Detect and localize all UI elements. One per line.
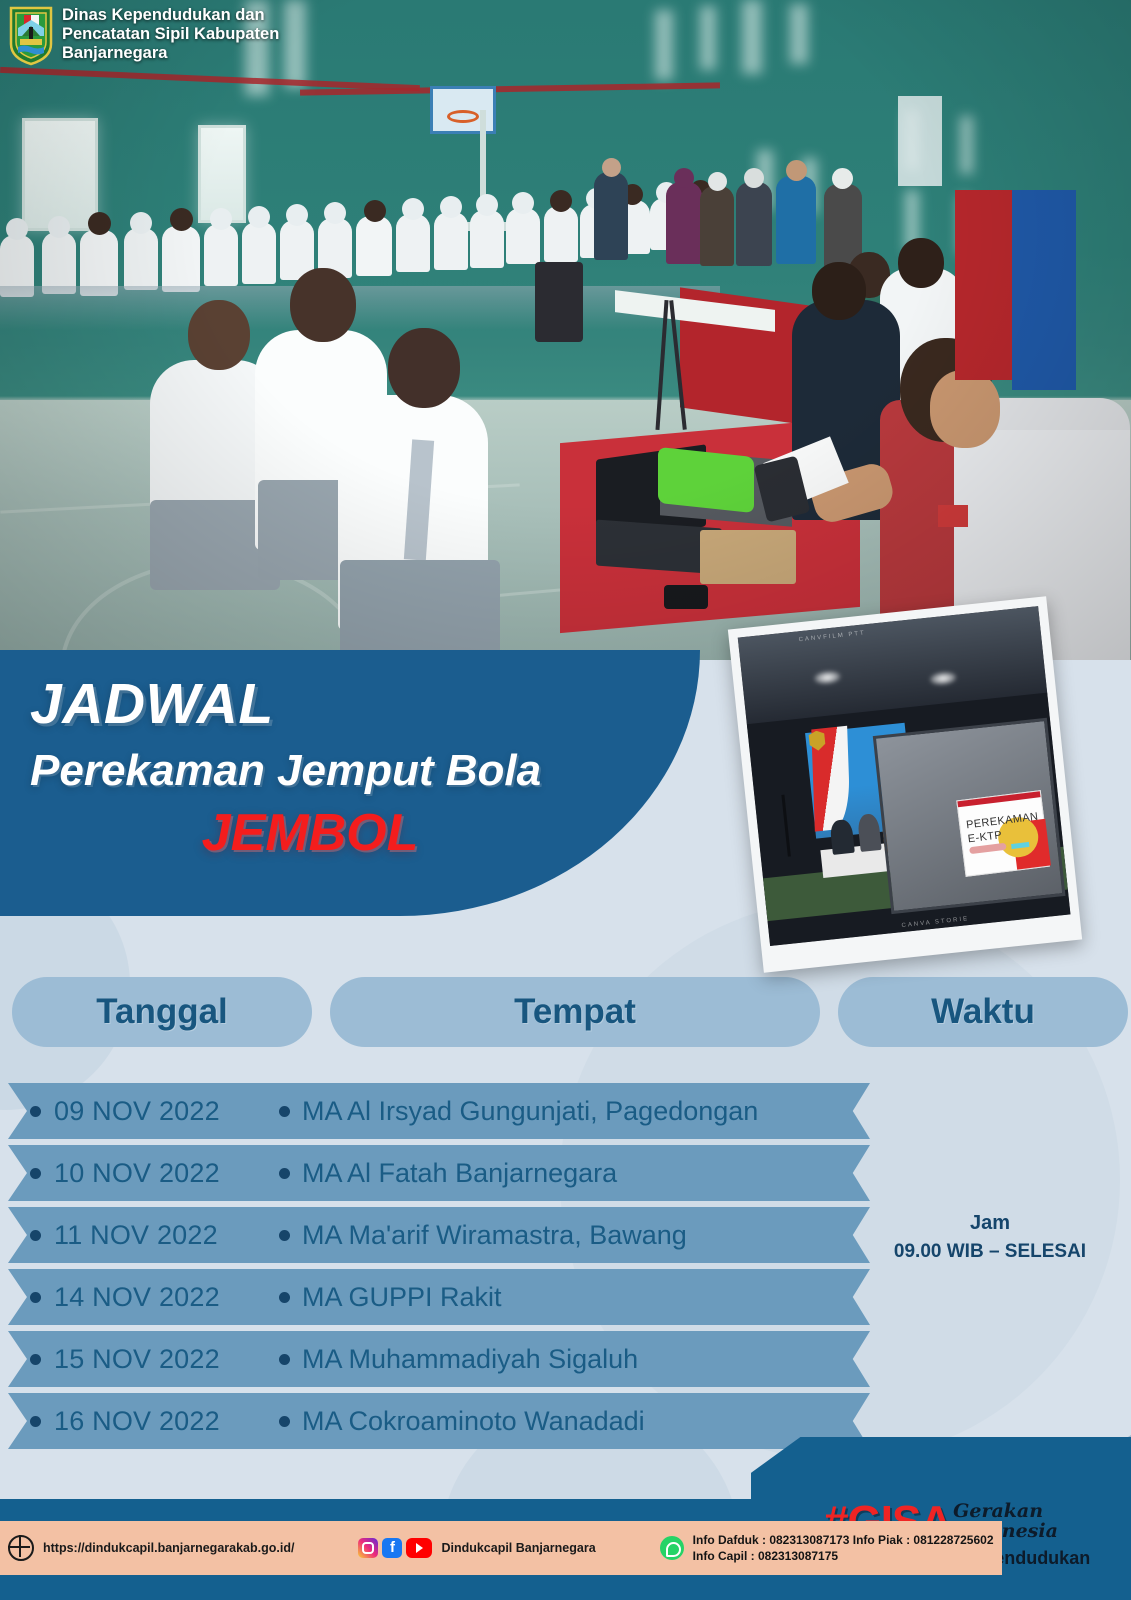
inset-photo: PEREKAMAN E-KTP CANVFILM PTT CANVA STORI… <box>738 606 1071 946</box>
waktu-value: 09.00 WIB – SELESAI <box>860 1241 1120 1263</box>
place-bullet-icon <box>279 1292 290 1303</box>
org-line-1: Dinas Kependudukan dan <box>62 6 279 25</box>
inset-photo-frame: PEREKAMAN E-KTP CANVFILM PTT CANVA STORI… <box>728 596 1082 973</box>
row-place: MA Muhammadiyah Sigaluh <box>302 1344 638 1375</box>
poster-root: Dinas Kependudukan dan Pencatatan Sipil … <box>0 0 1131 1600</box>
row-place-wrap: MA Al Irsyad Gungunjati, Pagedongan <box>279 1096 758 1127</box>
row-place: MA Al Irsyad Gungunjati, Pagedongan <box>302 1096 758 1127</box>
place-bullet-icon <box>279 1168 290 1179</box>
gisa-script-line-1: Gerakan <box>953 1502 1058 1522</box>
row-content: 14 NOV 2022 MA GUPPI Rakit <box>0 1269 880 1325</box>
date-bullet-icon <box>30 1416 41 1427</box>
column-header-tempat: Tempat <box>330 977 820 1047</box>
row-date: 15 NOV 2022 <box>54 1344 279 1375</box>
row-place: MA Al Fatah Banjarnegara <box>302 1158 617 1189</box>
row-content: 11 NOV 2022 MA Ma'arif Wiramastra, Bawan… <box>0 1207 880 1263</box>
contact-info-line-1: Info Dafduk : 082313087173 Info Piak : 0… <box>693 1532 994 1548</box>
inset-tv-screen: PEREKAMAN E-KTP <box>873 717 1066 914</box>
table-row: 14 NOV 2022 MA GUPPI Rakit <box>0 1269 880 1325</box>
place-bullet-icon <box>279 1416 290 1427</box>
instagram-icon[interactable] <box>358 1538 378 1558</box>
column-header-waktu-label: Waktu <box>931 992 1035 1032</box>
contact-info-line-2: Info Capil : 082313087175 <box>693 1548 994 1564</box>
table-row: 09 NOV 2022 MA Al Irsyad Gungunjati, Pag… <box>0 1083 880 1139</box>
column-header-waktu: Waktu <box>838 977 1128 1047</box>
date-bullet-icon <box>30 1354 41 1365</box>
facebook-icon[interactable]: f <box>382 1538 402 1558</box>
waktu-value-block: Jam 09.00 WIB – SELESAI <box>860 1212 1120 1263</box>
row-content: 10 NOV 2022 MA Al Fatah Banjarnegara <box>0 1145 880 1201</box>
date-bullet-icon <box>30 1230 41 1241</box>
title-block: JADWAL Perekaman Jemput Bola JEMBOL <box>30 676 590 859</box>
row-date: 16 NOV 2022 <box>54 1406 279 1437</box>
main-photo <box>0 0 1131 660</box>
date-bullet-icon <box>30 1292 41 1303</box>
waktu-label: Jam <box>860 1212 1120 1235</box>
column-header-tanggal-label: Tanggal <box>96 992 228 1032</box>
row-date: 14 NOV 2022 <box>54 1282 279 1313</box>
inset-slide: PEREKAMAN E-KTP <box>957 790 1051 876</box>
org-line-2: Pencatatan Sipil Kabupaten <box>62 25 279 44</box>
globe-icon <box>8 1535 34 1561</box>
title-line-3: JEMBOL <box>30 807 590 859</box>
date-bullet-icon <box>30 1168 41 1179</box>
website-url[interactable]: https://dindukcapil.banjarnegarakab.go.i… <box>43 1541 294 1555</box>
table-row: 16 NOV 2022 MA Cokroaminoto Wanadadi <box>0 1393 880 1449</box>
title-line-1: JADWAL <box>30 676 590 733</box>
row-place: MA Ma'arif Wiramastra, Bawang <box>302 1220 687 1251</box>
title-line-2: Perekaman Jemput Bola <box>30 749 590 793</box>
row-place-wrap: MA Ma'arif Wiramastra, Bawang <box>279 1220 687 1251</box>
row-date: 10 NOV 2022 <box>54 1158 279 1189</box>
column-header-tempat-label: Tempat <box>514 992 636 1032</box>
contact-band: https://dindukcapil.banjarnegarakab.go.i… <box>0 1521 1002 1575</box>
youtube-icon[interactable] <box>406 1538 432 1558</box>
row-place-wrap: MA Al Fatah Banjarnegara <box>279 1158 617 1189</box>
inset-slide-topbar <box>958 791 1041 807</box>
social-handle: Dindukcapil Banjarnegara <box>441 1541 595 1555</box>
row-place: MA GUPPI Rakit <box>302 1282 502 1313</box>
schedule-list: 09 NOV 2022 MA Al Irsyad Gungunjati, Pag… <box>0 1083 880 1455</box>
row-date: 09 NOV 2022 <box>54 1096 279 1127</box>
table-row: 11 NOV 2022 MA Ma'arif Wiramastra, Bawan… <box>0 1207 880 1263</box>
org-name: Dinas Kependudukan dan Pencatatan Sipil … <box>62 6 279 63</box>
row-content: 15 NOV 2022 MA Muhammadiyah Sigaluh <box>0 1331 880 1387</box>
contact-info: Info Dafduk : 082313087173 Info Piak : 0… <box>693 1532 994 1564</box>
photo-vignette <box>0 0 1131 660</box>
org-line-3: Banjarnegara <box>62 44 279 63</box>
row-place-wrap: MA Muhammadiyah Sigaluh <box>279 1344 638 1375</box>
date-bullet-icon <box>30 1106 41 1117</box>
place-bullet-icon <box>279 1230 290 1241</box>
social-icons: f <box>358 1538 432 1558</box>
row-content: 16 NOV 2022 MA Cokroaminoto Wanadadi <box>0 1393 880 1449</box>
column-header-tanggal: Tanggal <box>12 977 312 1047</box>
row-content: 09 NOV 2022 MA Al Irsyad Gungunjati, Pag… <box>0 1083 880 1139</box>
row-place: MA Cokroaminoto Wanadadi <box>302 1406 645 1437</box>
gisa-logo-block: #GISA Gerakan Indonesia Sadar Administra… <box>751 1437 1131 1600</box>
place-bullet-icon <box>279 1354 290 1365</box>
org-header: Dinas Kependudukan dan Pencatatan Sipil … <box>8 6 279 66</box>
contact-bar: https://dindukcapil.banjarnegarakab.go.i… <box>0 1521 880 1575</box>
row-place-wrap: MA GUPPI Rakit <box>279 1282 502 1313</box>
table-row: 15 NOV 2022 MA Muhammadiyah Sigaluh <box>0 1331 880 1387</box>
row-place-wrap: MA Cokroaminoto Wanadadi <box>279 1406 645 1437</box>
place-bullet-icon <box>279 1106 290 1117</box>
banjarnegara-coat-of-arms-icon <box>8 6 54 66</box>
whatsapp-icon[interactable] <box>660 1536 684 1560</box>
row-date: 11 NOV 2022 <box>54 1220 279 1251</box>
table-row: 10 NOV 2022 MA Al Fatah Banjarnegara <box>0 1145 880 1201</box>
